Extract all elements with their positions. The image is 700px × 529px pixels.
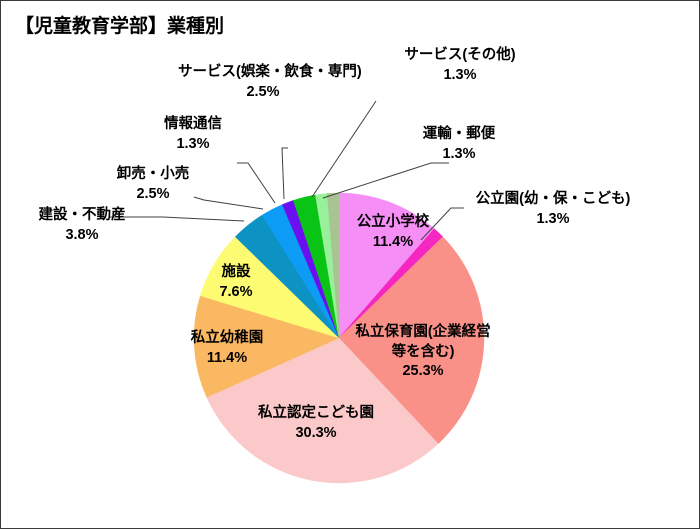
label-facility: 施設 7.6% [203,263,269,302]
label-transport-postal: 運輸・郵便 1.3% [407,125,511,164]
label-information-communication: 情報通信 1.3% [149,115,237,154]
label-service-entertainment-food-specialty: サービス(娯楽・飲食・専門) 2.5% [178,63,348,102]
leader-line-information-communication [237,163,275,203]
label-private-kindergarten: 私立幼稚園 11.4% [181,329,273,368]
label-wholesale-retail: 卸売・小売 2.5% [109,165,197,204]
label-construction-realestate: 建設・不動産 3.8% [26,206,138,245]
leader-line-service-other [312,101,376,197]
leader-line-transport-postal [323,163,449,198]
pie-chart-graphic [1,1,700,529]
label-private-certified-childcare: 私立認定こども園 30.3% [246,404,386,443]
leader-line-service-entertainment [282,148,288,199]
label-private-nursery-corporate: 私立保育園(企業経営 等を含む) 25.3% [344,323,502,382]
label-service-other: サービス(その他) 1.3% [390,46,530,85]
label-public-kindergarten-nursery: 公立園(幼・保・こども) 1.3% [460,190,646,229]
leader-line-wholesale-retail [194,197,263,209]
chart-canvas: 【児童教育学部】業種別 サービス(娯楽・飲食・専門) 2.5% サービス(その他… [0,0,700,529]
label-public-elementary-school: 公立小学校 11.4% [338,213,448,252]
